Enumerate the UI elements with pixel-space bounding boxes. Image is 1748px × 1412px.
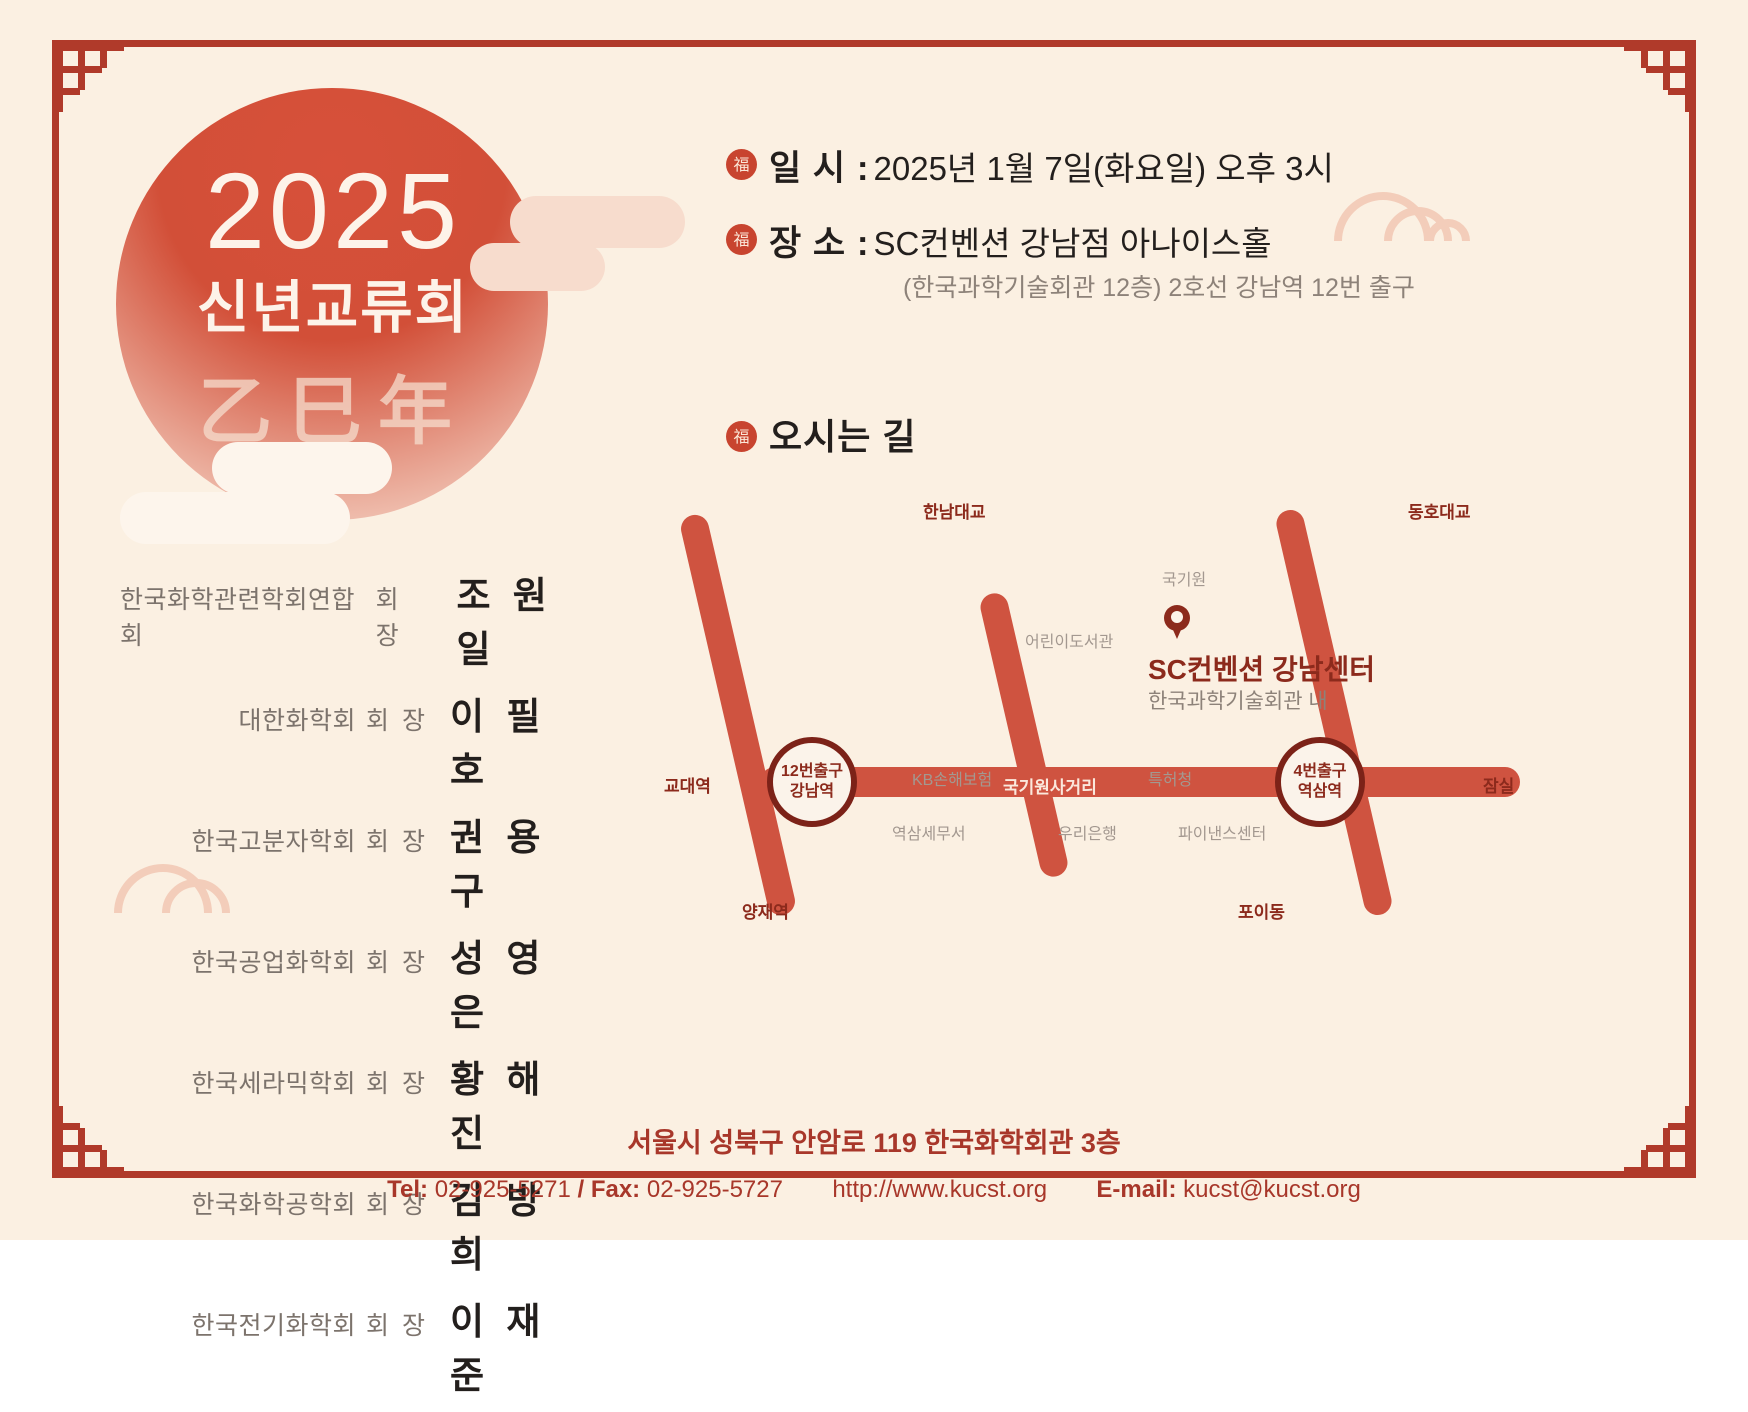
datetime-label: 일 시 :	[769, 140, 870, 191]
org-name: 한국세라믹학회	[192, 1064, 357, 1100]
cloud-decoration	[120, 492, 350, 544]
map-venue-sub: 한국과학기술회관 내	[1148, 685, 1328, 715]
footer-tel-value: 02-925-5271	[435, 1176, 571, 1203]
directions-heading: 福 오시는 길	[726, 408, 916, 460]
org-name: 한국화학관련학회연합회	[120, 580, 366, 652]
org-role: 회 장	[366, 822, 428, 858]
datetime-value: 2025년 1월 7일(화요일) 오후 3시	[874, 142, 1334, 190]
footer-email-label: E-mail:	[1096, 1176, 1176, 1203]
person-name: 이 필 호	[450, 686, 580, 794]
event-venue-row: 福 장 소 : SC컨벤션 강남점 아나이스홀 (한국과학기술회관 12층) 2…	[726, 215, 1626, 304]
map-label-finance-center: 파이낸스센터	[1178, 820, 1266, 844]
station-yeoksam[interactable]: 4번출구 역삼역	[1275, 737, 1365, 827]
footer-separator: /	[577, 1176, 584, 1203]
map-venue-name: SC컨벤션 강남센터	[1148, 648, 1375, 688]
location-pin-icon	[1164, 605, 1190, 639]
map-label-kookkiwon-crossroad: 국기원사거리	[1003, 773, 1097, 798]
person-name: 이 재 준	[450, 1291, 580, 1399]
hero-year: 2025	[118, 148, 548, 273]
fortune-badge-icon: 福	[726, 421, 757, 452]
map-label-patent-office: 특허청	[1148, 766, 1192, 790]
org-role: 회 장	[376, 580, 435, 652]
organizer-list: 한국화학관련학회연합회 회 장 조 원 일 대한화학회 회 장 이 필 호 한국…	[120, 565, 580, 1412]
hero-title: 신년교류회	[118, 262, 548, 344]
station-gangnam[interactable]: 12번출구 강남역	[767, 737, 857, 827]
org-role: 회 장	[366, 943, 428, 979]
org-role: 회 장	[366, 1306, 428, 1342]
venue-value: SC컨벤션 강남점 아나이스홀	[874, 217, 1272, 265]
venue-sub-detail: (한국과학기술회관 12층) 2호선 강남역 12번 출구	[903, 268, 1415, 304]
map-label-poi-dong: 포이동	[1238, 898, 1285, 923]
person-name: 조 원 일	[456, 565, 580, 673]
road-diagonal-hannam	[678, 512, 798, 918]
footer-fax-value: 02-925-5727	[647, 1176, 783, 1203]
station-exit-label: 4번출구	[1293, 762, 1346, 782]
footer-address: 서울시 성북구 안암로 119 한국화학회관 3층	[0, 1121, 1748, 1160]
list-item: 한국고분자학회 회 장 권 용 구	[120, 807, 580, 915]
station-name-label: 역삼역	[1298, 782, 1342, 802]
footer-fax-label: Fax:	[591, 1176, 640, 1203]
fortune-badge-icon: 福	[726, 149, 757, 180]
org-name: 한국고분자학회	[192, 822, 357, 858]
footer-email-link[interactable]: kucst@kucst.org	[1183, 1176, 1361, 1203]
map-label-gyodae-station: 교대역	[664, 772, 711, 797]
person-name: 성 영 은	[450, 928, 580, 1036]
org-role: 회 장	[366, 701, 428, 737]
list-item: 한국화학관련학회연합회 회 장 조 원 일	[120, 565, 580, 673]
fortune-badge-icon: 福	[726, 224, 757, 255]
directions-title: 오시는 길	[769, 408, 916, 460]
location-map: 한남대교 동호대교 교대역 잠실 양재역 포이동 국기원 어린이도서관 KB손해…	[640, 480, 1540, 940]
venue-label: 장 소 :	[769, 215, 870, 266]
frame-corner-top-left	[56, 44, 124, 112]
map-label-yeoksam-tax: 역삼세무서	[892, 820, 966, 844]
list-item: 대한화학회 회 장 이 필 호	[120, 686, 580, 794]
org-name: 한국공업화학회	[192, 943, 357, 979]
road-horizontal-main	[760, 767, 1520, 797]
footer-contact-line: Tel: 02-925-5271 / Fax: 02-925-5727 http…	[0, 1176, 1748, 1204]
cloud-decoration	[212, 442, 392, 494]
map-label-woori-bank: 우리은행	[1058, 820, 1117, 844]
map-label-children-library: 어린이도서관	[1025, 628, 1113, 652]
station-name-label: 강남역	[790, 782, 834, 802]
footer-website-link[interactable]: http://www.kucst.org	[832, 1176, 1047, 1203]
event-info-block: 福 일 시 : 2025년 1월 7일(화요일) 오후 3시 福 장 소 : S…	[726, 140, 1626, 314]
org-role: 회 장	[366, 1064, 428, 1100]
list-item: 한국공업화학회 회 장 성 영 은	[120, 928, 580, 1036]
list-item: 한국전기화학회 회 장 이 재 준	[120, 1291, 580, 1399]
map-label-hannam-bridge: 한남대교	[923, 498, 986, 523]
map-label-yangjae-station: 양재역	[742, 898, 789, 923]
map-label-jamsil: 잠실	[1483, 772, 1514, 797]
org-name: 대한화학회	[239, 701, 357, 737]
map-label-kookkiwon: 국기원	[1162, 566, 1206, 590]
footer-tel-label: Tel:	[387, 1176, 428, 1203]
map-label-dongho-bridge: 동호대교	[1408, 498, 1471, 523]
footer: 서울시 성북구 안암로 119 한국화학회관 3층 Tel: 02-925-52…	[0, 1121, 1748, 1204]
frame-corner-top-right	[1624, 44, 1692, 112]
event-datetime-row: 福 일 시 : 2025년 1월 7일(화요일) 오후 3시	[726, 140, 1626, 191]
org-name: 한국전기화학회	[192, 1306, 357, 1342]
person-name: 권 용 구	[450, 807, 580, 915]
station-exit-label: 12번출구	[781, 762, 843, 782]
map-label-kb-insurance: KB손해보험	[912, 766, 992, 790]
